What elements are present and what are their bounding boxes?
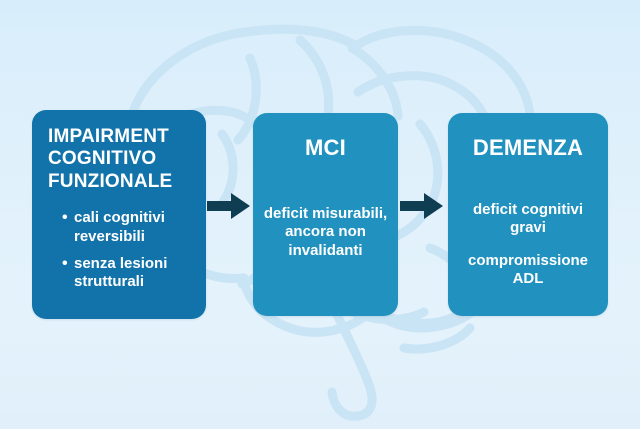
stage-body-text: deficit misurabili, ancora non invalidan…	[263, 205, 388, 260]
stage-box-mci[interactable]: MCI deficit misurabili, ancora non inval…	[253, 113, 398, 316]
arrow-right-icon	[207, 193, 250, 219]
stage-title: MCI	[263, 135, 388, 161]
stage-title-line: COGNITIVO	[48, 148, 192, 170]
stage-body-text: compromissione ADL	[458, 252, 598, 289]
stage-box-impairment-cognitivo-funzionale[interactable]: IMPAIRMENT COGNITIVO FUNZIONALE cali cog…	[32, 110, 206, 319]
list-item: senza lesioni strutturali	[62, 255, 192, 292]
stage-box-demenza[interactable]: DEMENZA deficit cognitivi gravi compromi…	[448, 113, 608, 316]
stage-body-text: deficit cognitivi gravi	[458, 201, 598, 238]
stage-title: IMPAIRMENT COGNITIVO FUNZIONALE	[48, 126, 192, 193]
stage-title: DEMENZA	[458, 135, 598, 161]
list-item: cali cognitivi reversibili	[62, 209, 192, 246]
stage-title-line: IMPAIRMENT	[48, 126, 192, 148]
stage-boxes: IMPAIRMENT COGNITIVO FUNZIONALE cali cog…	[0, 0, 640, 429]
arrow-right-icon	[400, 193, 443, 219]
stage-bullet-list: cali cognitivi reversibili senza lesioni…	[48, 209, 192, 291]
diagram-canvas: IMPAIRMENT COGNITIVO FUNZIONALE cali cog…	[0, 0, 640, 429]
stage-title-line: FUNZIONALE	[48, 171, 192, 193]
